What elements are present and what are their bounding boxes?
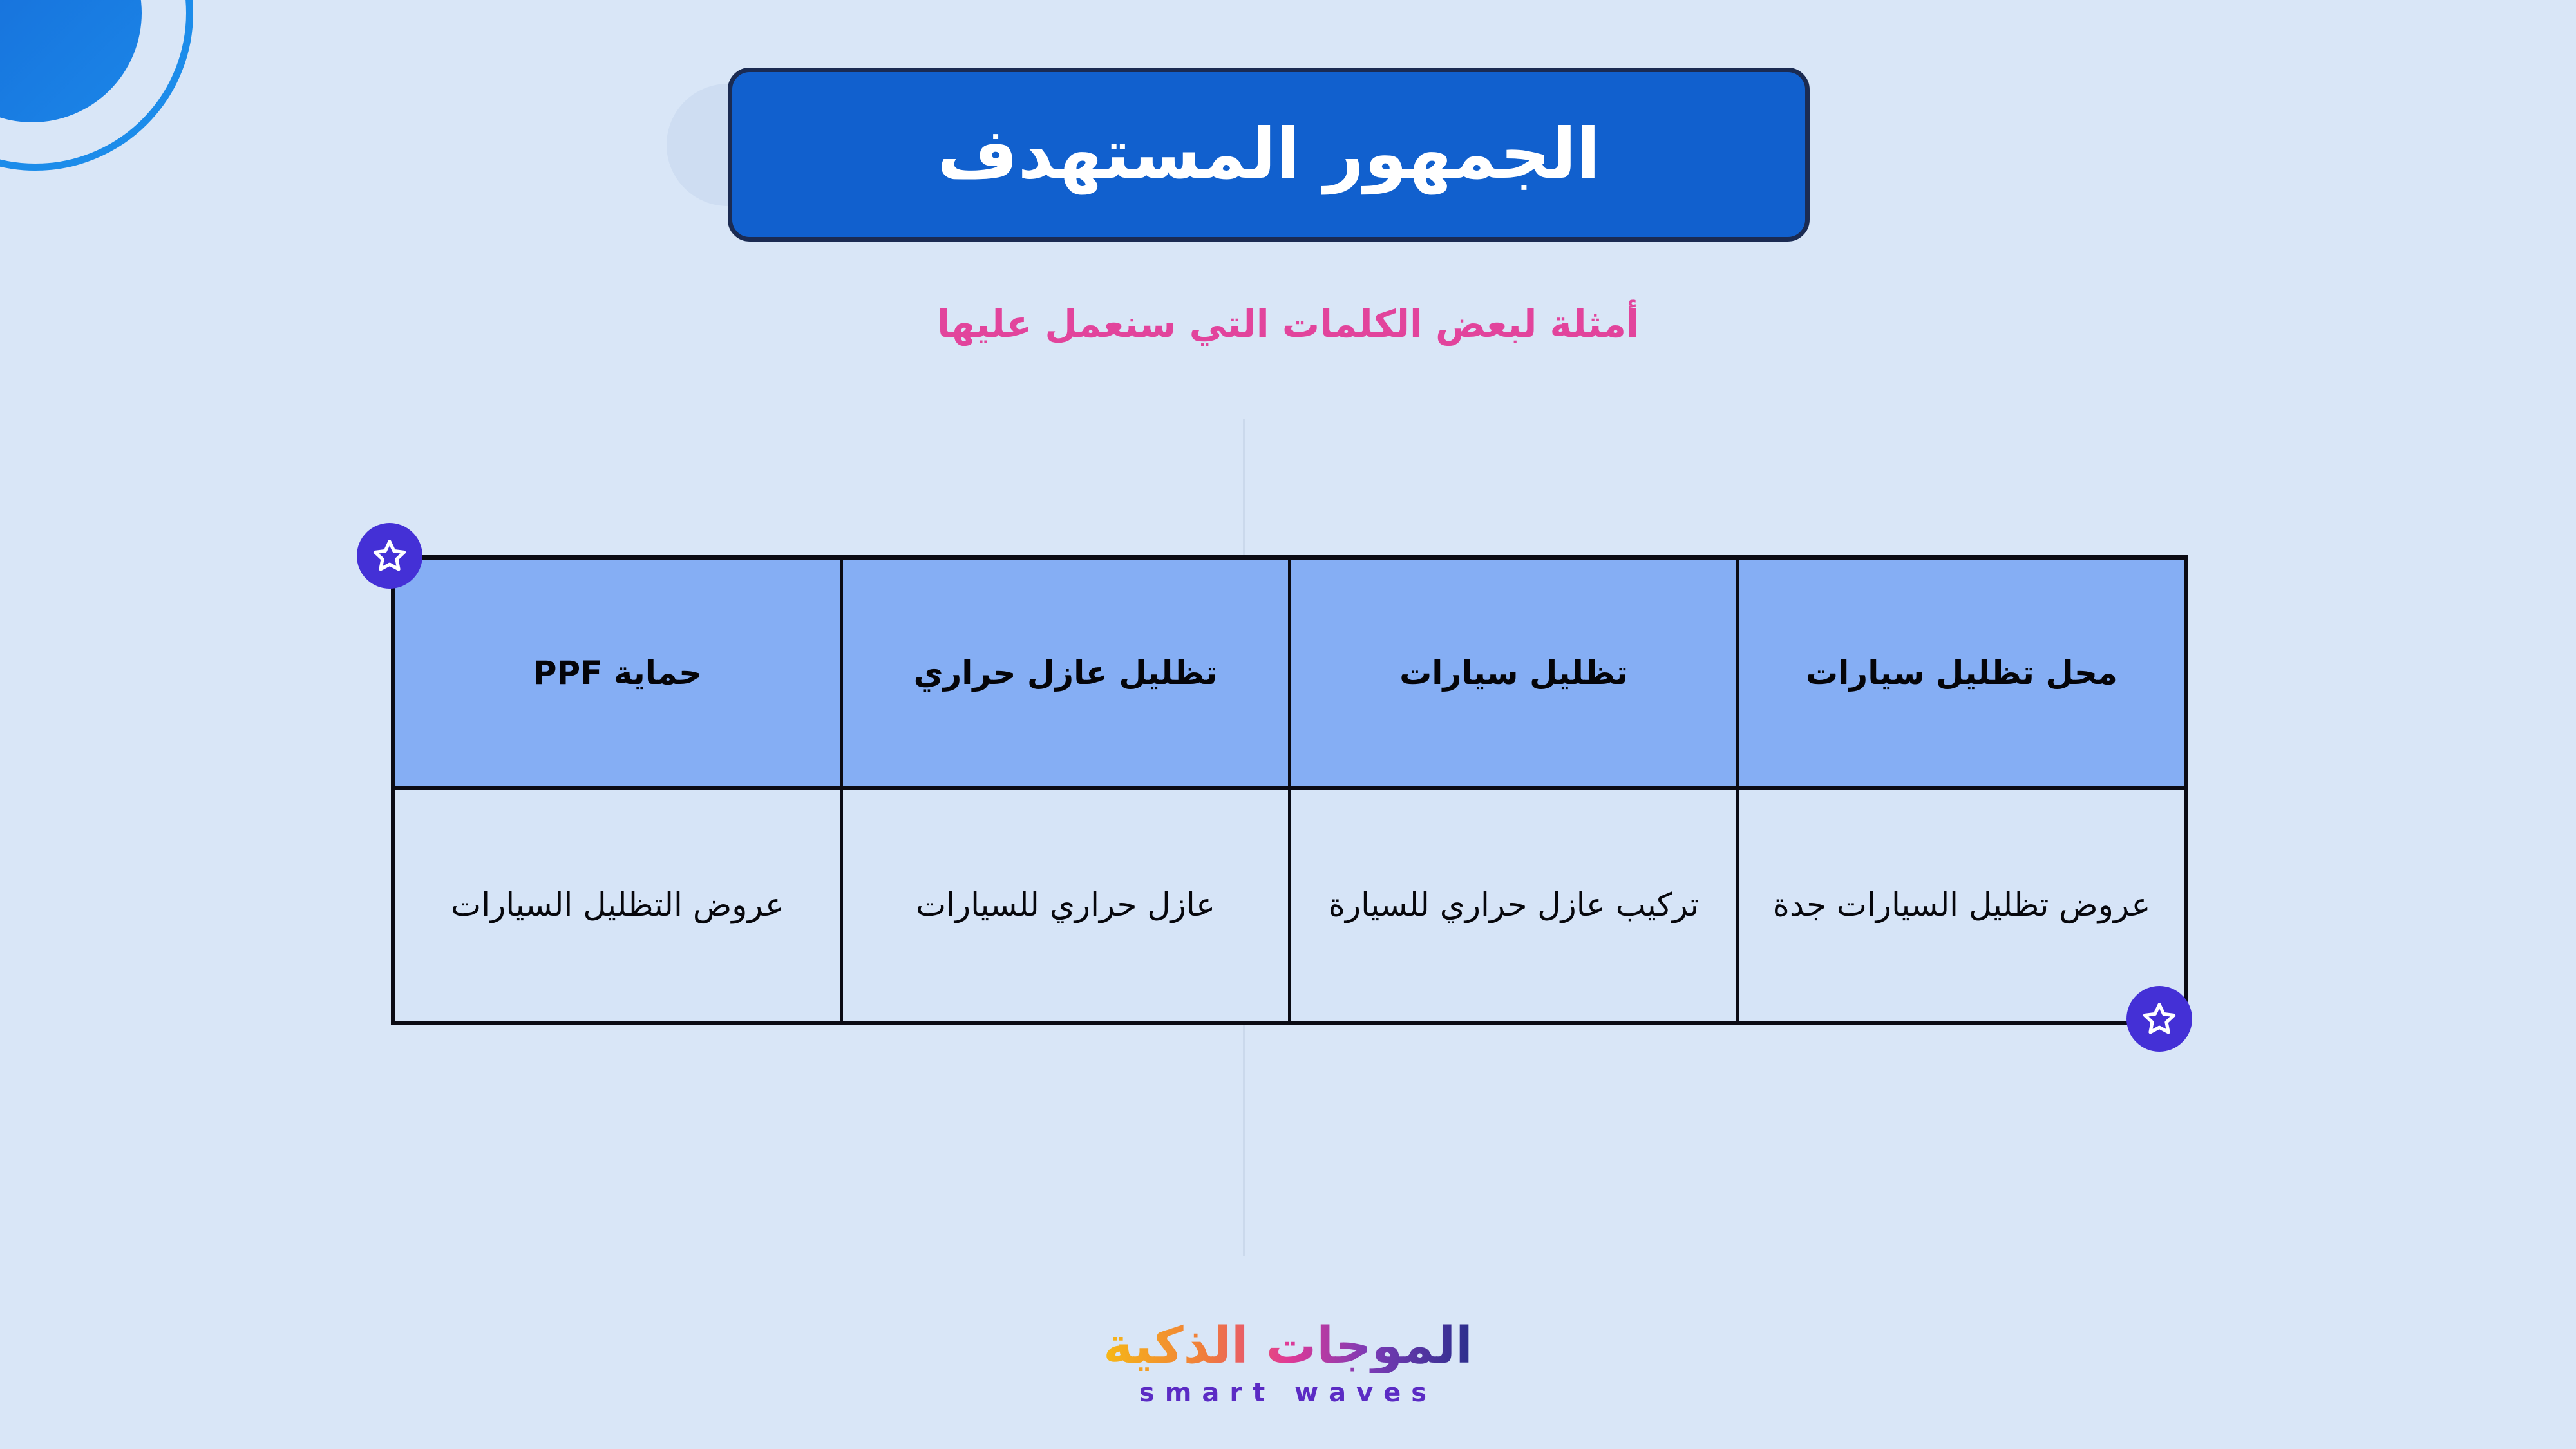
table-header-cell-1: محل تظليل سيارات [1738, 558, 2186, 788]
brand-logo: الموجات الذكية smart waves [0, 1320, 2576, 1408]
decorative-circle-ring [0, 0, 193, 171]
table-cell-3: عازل حراري للسيارات [842, 788, 1290, 1023]
keywords-table: محل تظليل سيارات تظليل سيارات تظليل عازل… [391, 555, 2188, 1025]
table-header-cell-3: تظليل عازل حراري [842, 558, 1290, 788]
table-cell-1: عروض تظليل السيارات جدة [1738, 788, 2186, 1023]
logo-english-text: smart waves [0, 1378, 2576, 1408]
table-header-cell-2: تظليل سيارات [1290, 558, 1738, 788]
star-icon [2140, 999, 2179, 1038]
table-header-row: محل تظليل سيارات تظليل سيارات تظليل عازل… [393, 558, 2186, 788]
star-badge-bottom-right [2126, 986, 2192, 1052]
table-row: عروض تظليل السيارات جدة تركيب عازل حراري… [393, 788, 2186, 1023]
table-header-cell-4: حماية PPF [393, 558, 842, 788]
table-header: محل تظليل سيارات تظليل سيارات تظليل عازل… [393, 558, 2186, 788]
page-subtitle: أمثلة لبعض الكلمات التي سنعمل عليها [0, 303, 2576, 346]
title-banner: الجمهور المستهدف [728, 68, 1810, 241]
keywords-table-container: محل تظليل سيارات تظليل سيارات تظليل عازل… [391, 555, 2188, 1021]
table-cell-2: تركيب عازل حراري للسيارة [1290, 788, 1738, 1023]
logo-arabic-text: الموجات الذكية [1103, 1320, 1473, 1373]
table-cell-4: عروض التظليل السيارات [393, 788, 842, 1023]
star-badge-top-left [357, 523, 422, 589]
table-body: عروض تظليل السيارات جدة تركيب عازل حراري… [393, 788, 2186, 1023]
star-icon [370, 536, 409, 575]
page-title: الجمهور المستهدف [937, 120, 1600, 189]
